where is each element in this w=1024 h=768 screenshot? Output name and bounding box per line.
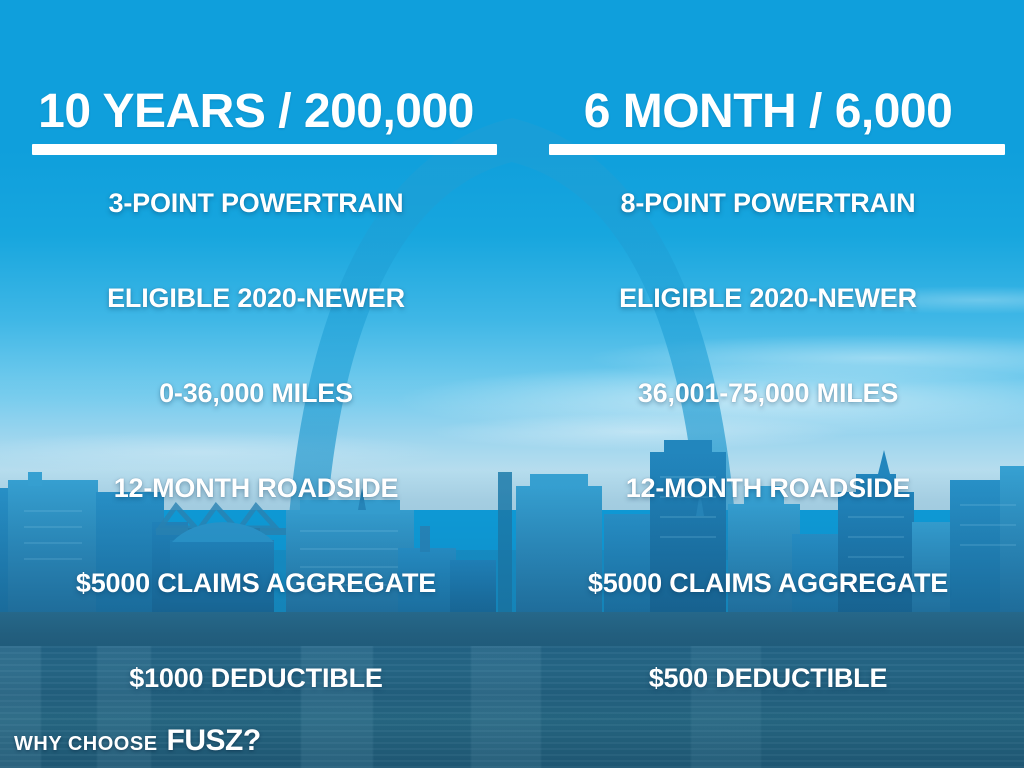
plan-headline-10-year: 10 YEARS / 200,000 bbox=[0, 88, 512, 136]
feature-text: $5000 CLAIMS AGGREGATE bbox=[76, 566, 436, 600]
list-item: ELIGIBLE 2020-NEWER bbox=[0, 281, 512, 376]
list-item: 0-36,000 MILES bbox=[0, 376, 512, 471]
feature-text: $1000 DEDUCTIBLE bbox=[129, 661, 382, 695]
brand-name: FUSZ? bbox=[167, 724, 261, 758]
brand-prefix: WHY CHOOSE bbox=[14, 733, 158, 756]
plan-column-10-year: 10 YEARS / 200,000 3-POINT POWERTRAIN EL… bbox=[0, 0, 512, 768]
plan-feature-list-6-month: 8-POINT POWERTRAIN ELIGIBLE 2020-NEWER 3… bbox=[512, 186, 1024, 756]
feature-text: ELIGIBLE 2020-NEWER bbox=[619, 281, 917, 315]
feature-text: 8-POINT POWERTRAIN bbox=[621, 186, 916, 220]
list-item: $5000 CLAIMS AGGREGATE bbox=[512, 566, 1024, 661]
list-item: 36,001-75,000 MILES bbox=[512, 376, 1024, 471]
feature-text: ELIGIBLE 2020-NEWER bbox=[107, 281, 405, 315]
plan-column-6-month: 6 MONTH / 6,000 8-POINT POWERTRAIN ELIGI… bbox=[512, 0, 1024, 768]
feature-text: 36,001-75,000 MILES bbox=[638, 376, 898, 410]
feature-text: 12-MONTH ROADSIDE bbox=[626, 471, 911, 505]
list-item: 3-POINT POWERTRAIN bbox=[0, 186, 512, 281]
feature-text: 12-MONTH ROADSIDE bbox=[114, 471, 399, 505]
list-item: 12-MONTH ROADSIDE bbox=[512, 471, 1024, 566]
plan-headline-6-month: 6 MONTH / 6,000 bbox=[512, 88, 1024, 136]
feature-text: 3-POINT POWERTRAIN bbox=[109, 186, 404, 220]
list-item: $500 DEDUCTIBLE bbox=[512, 661, 1024, 756]
slide-root: 10 YEARS / 200,000 3-POINT POWERTRAIN EL… bbox=[0, 0, 1024, 768]
feature-text: $5000 CLAIMS AGGREGATE bbox=[588, 566, 948, 600]
brand-lockup: WHY CHOOSE FUSZ? bbox=[14, 724, 261, 758]
headline-underline-left bbox=[32, 144, 497, 155]
list-item: ELIGIBLE 2020-NEWER bbox=[512, 281, 1024, 376]
list-item: 8-POINT POWERTRAIN bbox=[512, 186, 1024, 281]
list-item: $5000 CLAIMS AGGREGATE bbox=[0, 566, 512, 661]
headline-underline-right bbox=[549, 144, 1005, 155]
feature-text: $500 DEDUCTIBLE bbox=[649, 661, 888, 695]
plan-feature-list-10-year: 3-POINT POWERTRAIN ELIGIBLE 2020-NEWER 0… bbox=[0, 186, 512, 756]
list-item: 12-MONTH ROADSIDE bbox=[0, 471, 512, 566]
feature-text: 0-36,000 MILES bbox=[159, 376, 353, 410]
